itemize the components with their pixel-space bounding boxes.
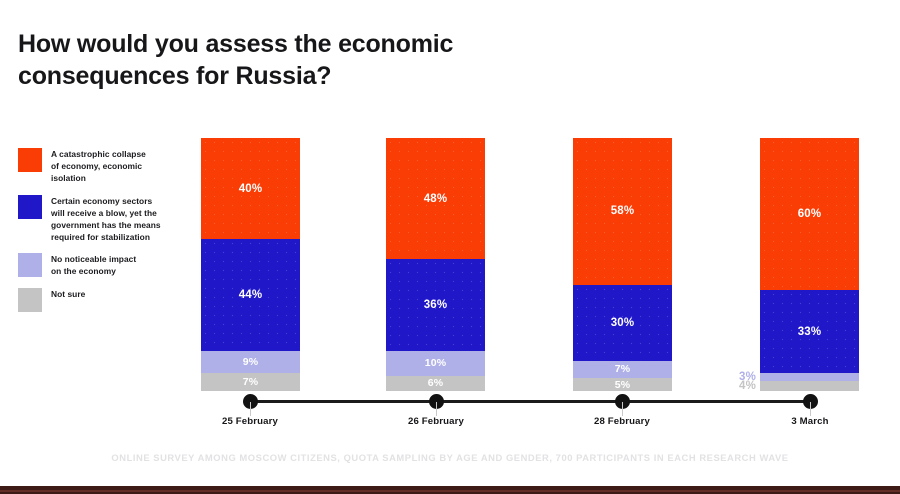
bar-segment-certain-sectors[interactable]: 44% (201, 239, 300, 350)
axis-tick-26-february (436, 402, 437, 416)
axis-label-28-february: 28 February (594, 416, 650, 427)
bar-segment-label: 60% (798, 208, 822, 220)
bar-segment-catastrophic[interactable]: 58% (573, 138, 672, 285)
bar-segment-certain-sectors[interactable]: 36% (386, 259, 485, 350)
bar-group-25-february[interactable]: 40% 44% 9% 7% (201, 138, 300, 391)
bar-segment-label: 33% (798, 326, 822, 338)
axis-label-26-february: 26 February (408, 416, 464, 427)
bar-segment-label: 48% (424, 193, 448, 205)
bar-segment-label: 30% (611, 317, 635, 329)
bar-segment-label: 5% (615, 379, 631, 391)
bar-segment-label: 7% (243, 376, 259, 388)
bar-segment-not-sure[interactable]: 4% (760, 381, 859, 391)
timeline-axis-line (250, 400, 810, 403)
axis-label-25-february: 25 February (222, 416, 278, 427)
bar-segment-no-impact[interactable]: 7% (573, 361, 672, 379)
bar-segment-label: 9% (243, 356, 259, 368)
bar-segment-no-impact[interactable]: 3% (760, 373, 859, 381)
bar-group-3-march[interactable]: 60% 33% 3% 4% (760, 138, 859, 391)
bar-segment-certain-sectors[interactable]: 30% (573, 285, 672, 361)
bottom-accent-strip (0, 486, 900, 494)
bottom-accent-strip-highlight (0, 490, 900, 492)
bar-segment-not-sure[interactable]: 5% (573, 378, 672, 391)
bar-segment-not-sure[interactable]: 6% (386, 376, 485, 391)
axis-tick-28-february (622, 402, 623, 416)
bar-segment-catastrophic[interactable]: 48% (386, 138, 485, 259)
bar-segment-label: 36% (424, 299, 448, 311)
bar-segment-label: 58% (611, 205, 635, 217)
bar-segment-no-impact[interactable]: 9% (201, 351, 300, 374)
bar-group-28-february[interactable]: 58% 30% 7% 5% (573, 138, 672, 391)
bar-segment-label: 6% (428, 377, 444, 389)
bar-group-26-february[interactable]: 48% 36% 10% 6% (386, 138, 485, 391)
axis-tick-3-march (810, 402, 811, 416)
stacked-bar-chart: 40% 44% 9% 7% 48% 36% 10% 6% 58% 30% (0, 0, 900, 494)
bar-segment-catastrophic[interactable]: 40% (201, 138, 300, 239)
bar-segment-catastrophic[interactable]: 60% (760, 138, 859, 290)
survey-methodology-note: ONLINE SURVEY AMONG MOSCOW CITIZENS, QUO… (0, 452, 900, 463)
bar-segment-no-impact[interactable]: 10% (386, 351, 485, 376)
bar-segment-not-sure[interactable]: 7% (201, 373, 300, 391)
axis-tick-25-february (250, 402, 251, 416)
bar-segment-label: 7% (615, 363, 631, 375)
bar-segment-label: 44% (239, 289, 263, 301)
bar-segment-label: 10% (425, 357, 447, 369)
bar-segment-outside-label-not-sure: 4% (739, 380, 756, 392)
bar-segment-certain-sectors[interactable]: 33% (760, 290, 859, 373)
bar-segment-label: 40% (239, 183, 263, 195)
axis-label-3-march: 3 March (791, 416, 828, 427)
